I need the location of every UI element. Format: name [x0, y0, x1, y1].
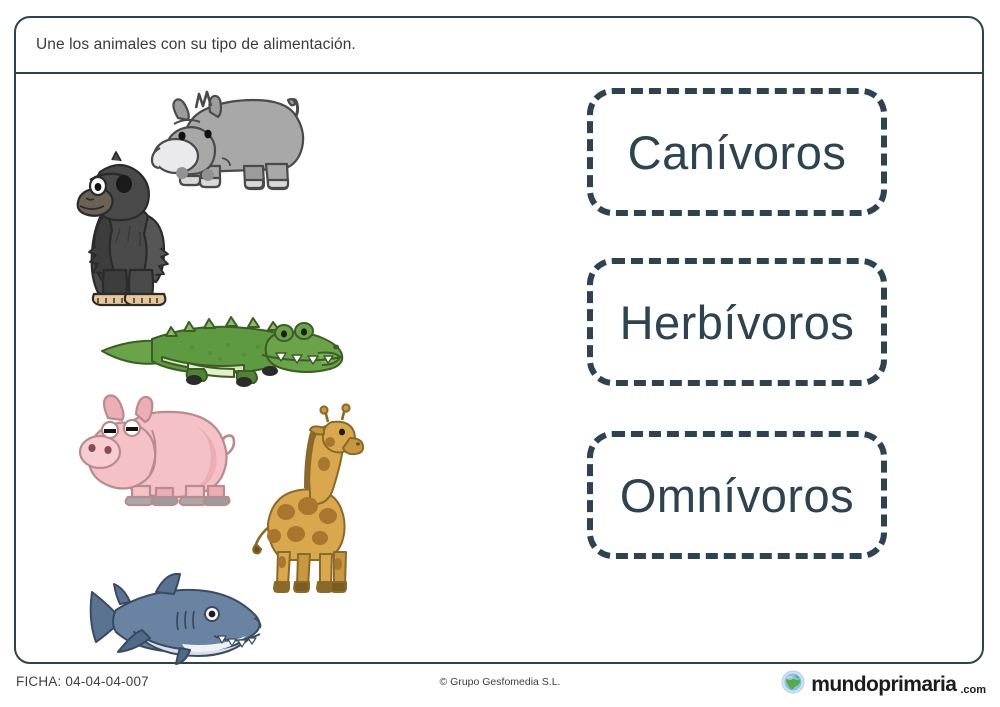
animal-shark[interactable] [86, 574, 276, 664]
globe-icon [781, 670, 805, 699]
brand-name: mundoprimaria [811, 673, 956, 697]
category-label: Canívoros [628, 129, 847, 176]
category-box-carnivoros[interactable]: Canívoros [587, 88, 887, 216]
animal-gorilla[interactable] [64, 152, 184, 312]
category-box-omnivoros[interactable]: Omnívoros [587, 431, 887, 559]
category-label: Omnívoros [620, 472, 854, 519]
animal-pig[interactable] [74, 390, 249, 508]
instruction-text: Une los animales con su tipo de alimenta… [16, 36, 356, 54]
instruction-bar: Une los animales con su tipo de alimenta… [16, 18, 982, 74]
footer: FICHA: 04-04-04-007 © Grupo Gesfomedia S… [0, 664, 1000, 707]
animal-crocodile[interactable] [92, 309, 352, 387]
brand-logo[interactable]: mundoprimaria .com [781, 670, 986, 699]
category-box-herbivoros[interactable]: Herbívoros [587, 258, 887, 386]
worksheet-frame: Une los animales con su tipo de alimenta… [14, 16, 984, 664]
category-label: Herbívoros [620, 299, 855, 346]
work-area: Canívoros Herbívoros Omnívoros [16, 74, 982, 662]
brand-tld: .com [960, 684, 986, 699]
animal-giraffe[interactable] [254, 412, 364, 600]
